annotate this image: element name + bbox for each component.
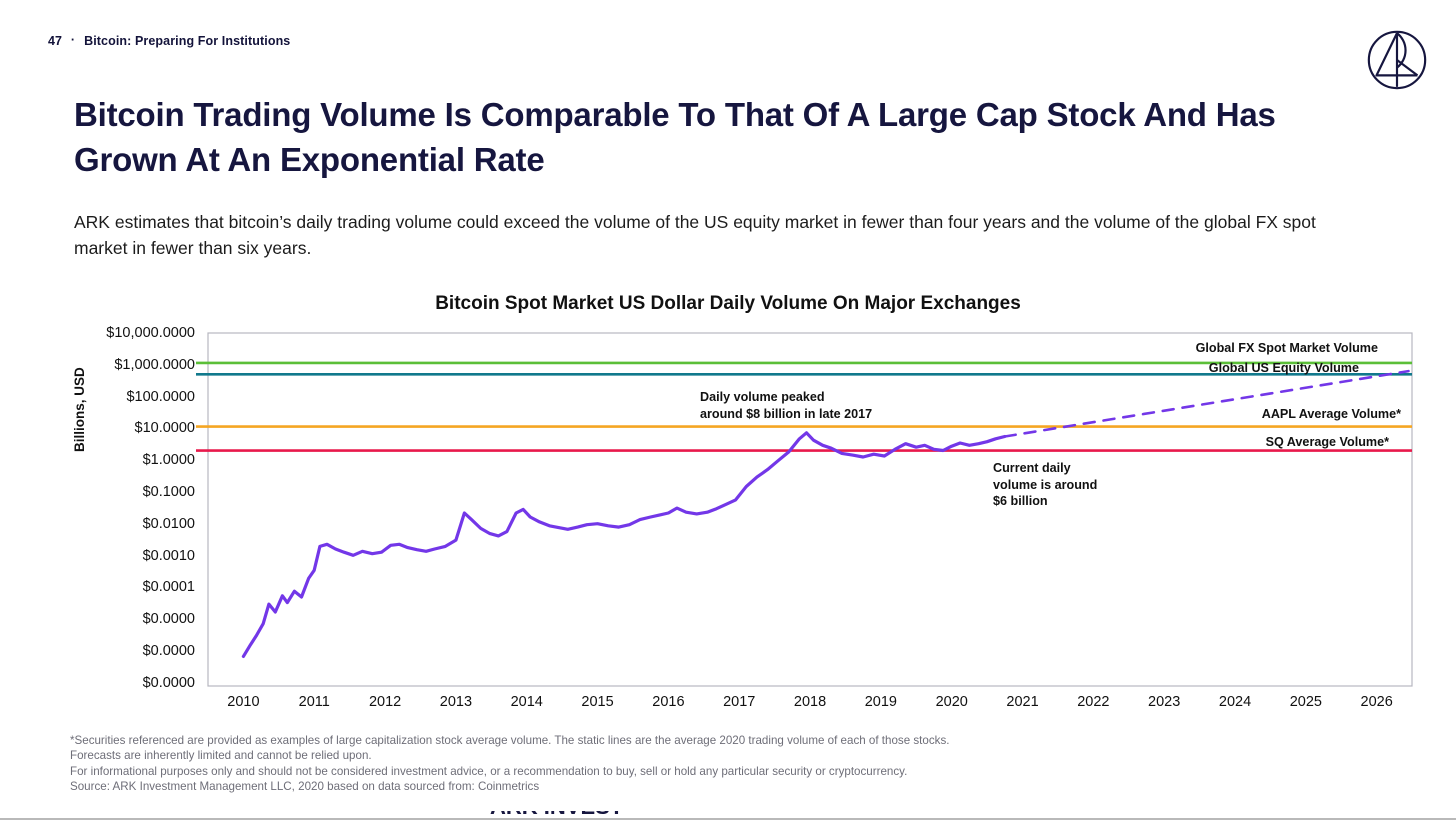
x-tick-2011: 2011 xyxy=(279,694,350,710)
reference-label-global-fx: Global FX Spot Market Volume xyxy=(1196,341,1378,355)
series-0 xyxy=(243,433,1004,657)
x-tick-2010: 2010 xyxy=(208,694,279,710)
x-tick-2018: 2018 xyxy=(775,694,846,710)
bottom-partial-text: ARK INVEST xyxy=(490,811,685,818)
footnote-line-2: For informational purposes only and shou… xyxy=(70,764,1170,779)
x-tick-2022: 2022 xyxy=(1058,694,1129,710)
reference-label-sq: SQ Average Volume* xyxy=(1266,435,1389,449)
current-annotation: Current daily volume is around $6 billio… xyxy=(993,460,1097,510)
footnote-line-3: Source: ARK Investment Management LLC, 2… xyxy=(70,779,1170,794)
slide-page: 47 · Bitcoin: Preparing For Institutions… xyxy=(0,0,1456,820)
footnote-line-0: *Securities referenced are provided as e… xyxy=(70,733,1170,748)
bottom-partial-label: ARK INVEST xyxy=(490,811,685,818)
peak-annotation: Daily volume peaked around $8 billion in… xyxy=(700,389,872,422)
plot-border xyxy=(208,333,1412,686)
x-tick-2020: 2020 xyxy=(916,694,987,710)
x-tick-2013: 2013 xyxy=(420,694,491,710)
x-tick-2026: 2026 xyxy=(1341,694,1412,710)
x-tick-2025: 2025 xyxy=(1270,694,1341,710)
x-tick-2016: 2016 xyxy=(633,694,704,710)
footnotes: *Securities referenced are provided as e… xyxy=(70,733,1170,795)
x-tick-2024: 2024 xyxy=(1200,694,1271,710)
x-tick-2023: 2023 xyxy=(1129,694,1200,710)
x-tick-2017: 2017 xyxy=(704,694,775,710)
reference-label-global-us-equity: Global US Equity Volume xyxy=(1209,361,1359,375)
x-tick-2012: 2012 xyxy=(350,694,421,710)
x-axis-tick-labels: 2010201120122013201420152016201720182019… xyxy=(208,694,1412,710)
x-tick-2021: 2021 xyxy=(987,694,1058,710)
footnote-line-1: Forecasts are inherently limited and can… xyxy=(70,748,1170,763)
x-tick-2014: 2014 xyxy=(491,694,562,710)
x-tick-2019: 2019 xyxy=(845,694,916,710)
x-tick-2015: 2015 xyxy=(562,694,633,710)
reference-label-aapl: AAPL Average Volume* xyxy=(1262,407,1401,421)
